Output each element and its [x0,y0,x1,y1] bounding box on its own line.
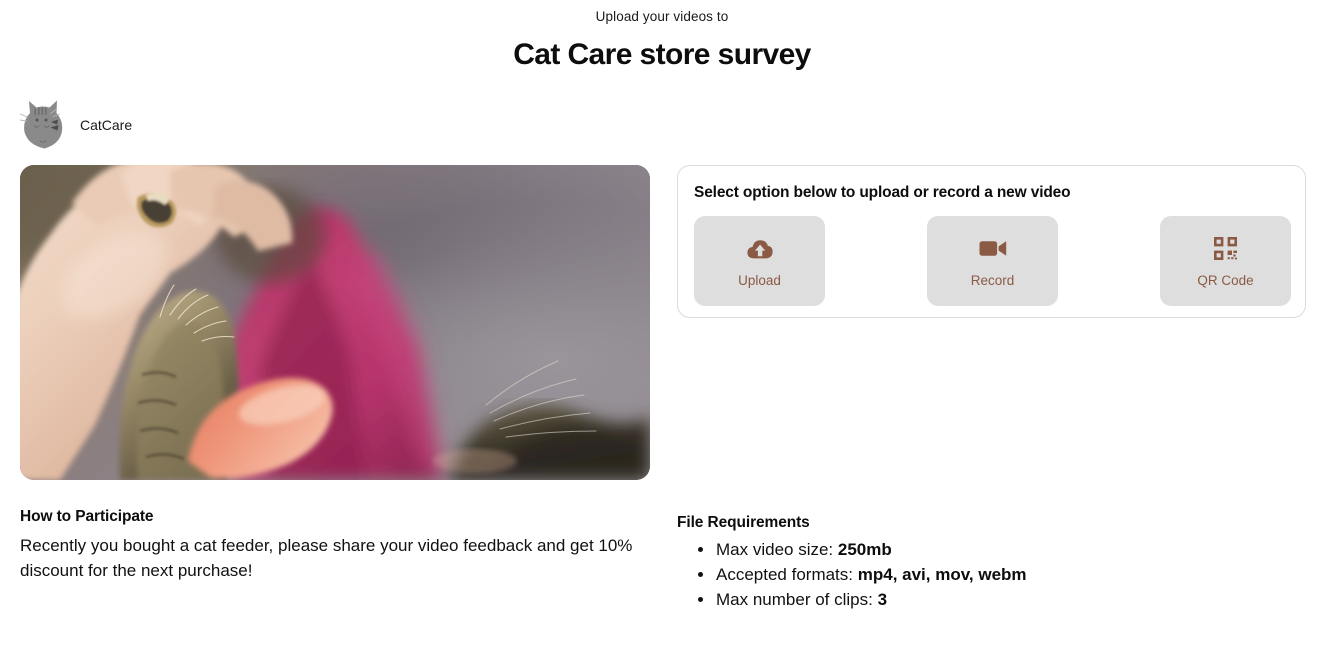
video-camera-icon [979,234,1007,264]
upload-options-row: Upload Record [694,216,1291,306]
list-item: Accepted formats: mp4, avi, mov, webm [677,562,1307,587]
how-to-participate-heading: How to Participate [20,507,650,527]
file-requirements-heading: File Requirements [677,513,1307,533]
qr-code-icon [1214,234,1237,264]
requirement-label: Accepted formats: [716,565,858,584]
upload-option-button[interactable]: Upload [694,216,825,306]
qr-code-option-button[interactable]: QR Code [1160,216,1291,306]
requirement-label: Max number of clips: [716,590,878,609]
file-requirements-list: Max video size: 250mb Accepted formats: … [677,537,1307,612]
file-requirements-block: File Requirements Max video size: 250mb … [677,513,1307,612]
brand: CatCare [20,99,132,151]
record-option-button[interactable]: Record [927,216,1058,306]
requirement-value: 250mb [838,540,892,559]
page-eyebrow: Upload your videos to [0,8,1324,26]
upload-options-title: Select option below to upload or record … [694,183,1291,203]
qr-code-option-label: QR Code [1197,272,1253,289]
how-to-participate-block: How to Participate Recently you bought a… [20,507,650,583]
hero-image [20,165,650,480]
upload-option-label: Upload [738,272,781,289]
requirement-label: Max video size: [716,540,838,559]
record-option-label: Record [971,272,1015,289]
upload-options-panel: Select option below to upload or record … [677,165,1306,318]
cloud-upload-icon [747,234,773,264]
list-item: Max video size: 250mb [677,537,1307,562]
how-to-participate-body: Recently you bought a cat feeder, please… [20,533,636,583]
left-column: How to Participate Recently you bought a… [20,165,650,583]
requirement-value: 3 [878,590,887,609]
page-title: Cat Care store survey [0,36,1324,74]
list-item: Max number of clips: 3 [677,587,1307,612]
brand-name: CatCare [80,116,132,134]
requirement-value: mp4, avi, mov, webm [858,565,1027,584]
right-column: Select option below to upload or record … [677,165,1307,612]
page-header: Upload your videos to Cat Care store sur… [0,0,1324,74]
cat-head-logo-icon [20,99,66,151]
